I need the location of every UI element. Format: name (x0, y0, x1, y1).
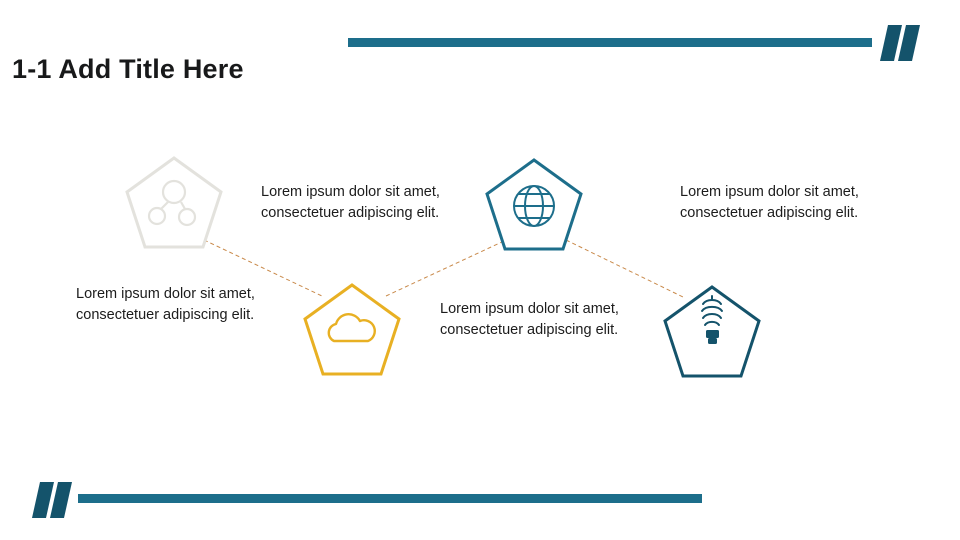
node-1-group[interactable] (127, 158, 221, 247)
caption-1: Lorem ipsum dolor sit amet, consectetuer… (76, 284, 261, 326)
page-title: 1-1 Add Title Here (12, 54, 244, 85)
bottom-accent-bar (78, 494, 702, 503)
node-2-pentagon (305, 285, 399, 374)
lightbulb-icon (702, 296, 722, 344)
caption-2: Lorem ipsum dolor sit amet, consectetuer… (261, 182, 451, 224)
globe-icon (514, 186, 554, 226)
network-nodes-icon (149, 181, 195, 225)
slide-canvas: 1-1 Add Title Here (0, 0, 960, 540)
cloud-icon (329, 314, 375, 341)
node-4-group[interactable] (665, 287, 759, 376)
caption-4: Lorem ipsum dolor sit amet, consectetuer… (680, 182, 860, 224)
node-3-pentagon (487, 160, 581, 249)
node-3-group[interactable] (487, 160, 581, 249)
corner-bottom-left-accent (32, 482, 80, 518)
node-4-pentagon (665, 287, 759, 376)
top-accent-bar (348, 38, 872, 47)
node-1-pentagon (127, 158, 221, 247)
caption-3: Lorem ipsum dolor sit amet, consectetuer… (440, 299, 635, 341)
node-2-group[interactable] (305, 285, 399, 374)
corner-top-right-accent (880, 25, 928, 61)
connector-2-3 (386, 241, 504, 296)
connector-lines (204, 240, 683, 297)
connector-3-4 (566, 240, 683, 297)
